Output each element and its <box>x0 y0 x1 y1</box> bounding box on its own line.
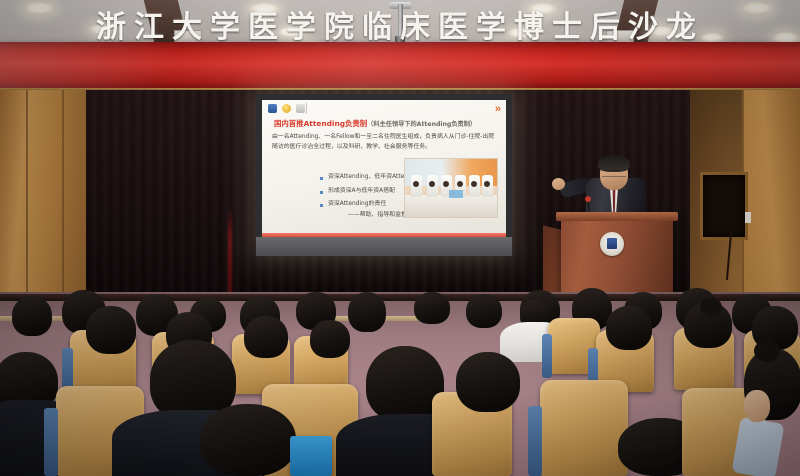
event-banner <box>0 42 800 90</box>
audience-head <box>456 352 520 412</box>
seat-side-panel <box>44 408 58 476</box>
eyeglasses-icon <box>602 170 626 177</box>
bullet-text: 资深Attending的责任 <box>328 201 386 207</box>
podium <box>561 218 673 298</box>
audience-head <box>12 296 52 336</box>
photo-person-head <box>471 181 477 187</box>
seal-logo-icon <box>282 104 291 113</box>
audience-hair-bun <box>700 298 722 316</box>
control-booth-window <box>700 172 748 240</box>
photo-person-head <box>429 181 435 187</box>
slide-logo-group <box>268 104 305 113</box>
audience-head <box>414 292 450 324</box>
screen-skirt <box>256 237 512 256</box>
photo-person-head <box>457 181 463 187</box>
blue-tote-bag <box>290 436 332 476</box>
audience-hair-bun <box>754 340 780 362</box>
wall-switch[interactable] <box>745 212 751 223</box>
audience-head <box>466 294 502 328</box>
slide-paragraph: 由一名Attending、一名Fellow和一至二名住院医生组成，负责病人从门诊… <box>272 133 500 152</box>
seat-side-panel <box>542 334 552 378</box>
slide-title: 国内首推Attending负责制（科主任领导下的Attending负责制） <box>274 120 498 129</box>
banner-title: 浙江大学医学院临床医学博士后沙龙 <box>0 0 800 48</box>
slide-photo <box>404 158 498 218</box>
seat[interactable] <box>540 380 628 476</box>
auditorium-scene: 浙江大学医学院临床医学博士后沙龙 » 国内首推Attending负责制（科主任领… <box>0 0 800 476</box>
photo-equipment <box>449 190 463 198</box>
podium-top <box>556 212 678 221</box>
photo-person-head <box>484 181 490 187</box>
microphone-head-icon <box>585 196 591 202</box>
slide-title-sub: （科主任领导下的Attending负责制） <box>367 121 476 128</box>
audience-head <box>606 306 652 350</box>
audience-raised-hand <box>744 390 770 422</box>
curtain-red-accent <box>228 206 232 294</box>
speaker-hand <box>552 178 565 190</box>
chevron-right-icon: » <box>495 103 500 115</box>
audience-head <box>200 404 296 476</box>
photo-person-head <box>443 181 449 187</box>
projection-screen: » 国内首推Attending负责制（科主任领导下的Attending负责制） … <box>262 100 506 233</box>
wall-seam <box>26 90 28 295</box>
slide-divider <box>306 103 307 114</box>
slide-title-main: 国内首推Attending负责制 <box>274 119 367 128</box>
university-emblem-icon <box>600 232 624 256</box>
photo-person-head <box>413 181 419 187</box>
audience-head <box>244 316 288 358</box>
wall-panel-left <box>0 90 86 295</box>
audience-head <box>310 320 350 358</box>
shield-logo-icon <box>268 104 277 113</box>
wall-seam <box>62 90 64 295</box>
audience-head <box>86 306 136 354</box>
audience-sleeve <box>731 417 784 476</box>
institution-logo-icon <box>296 104 305 113</box>
seat-side-panel <box>528 406 542 476</box>
audience-head <box>348 292 386 332</box>
